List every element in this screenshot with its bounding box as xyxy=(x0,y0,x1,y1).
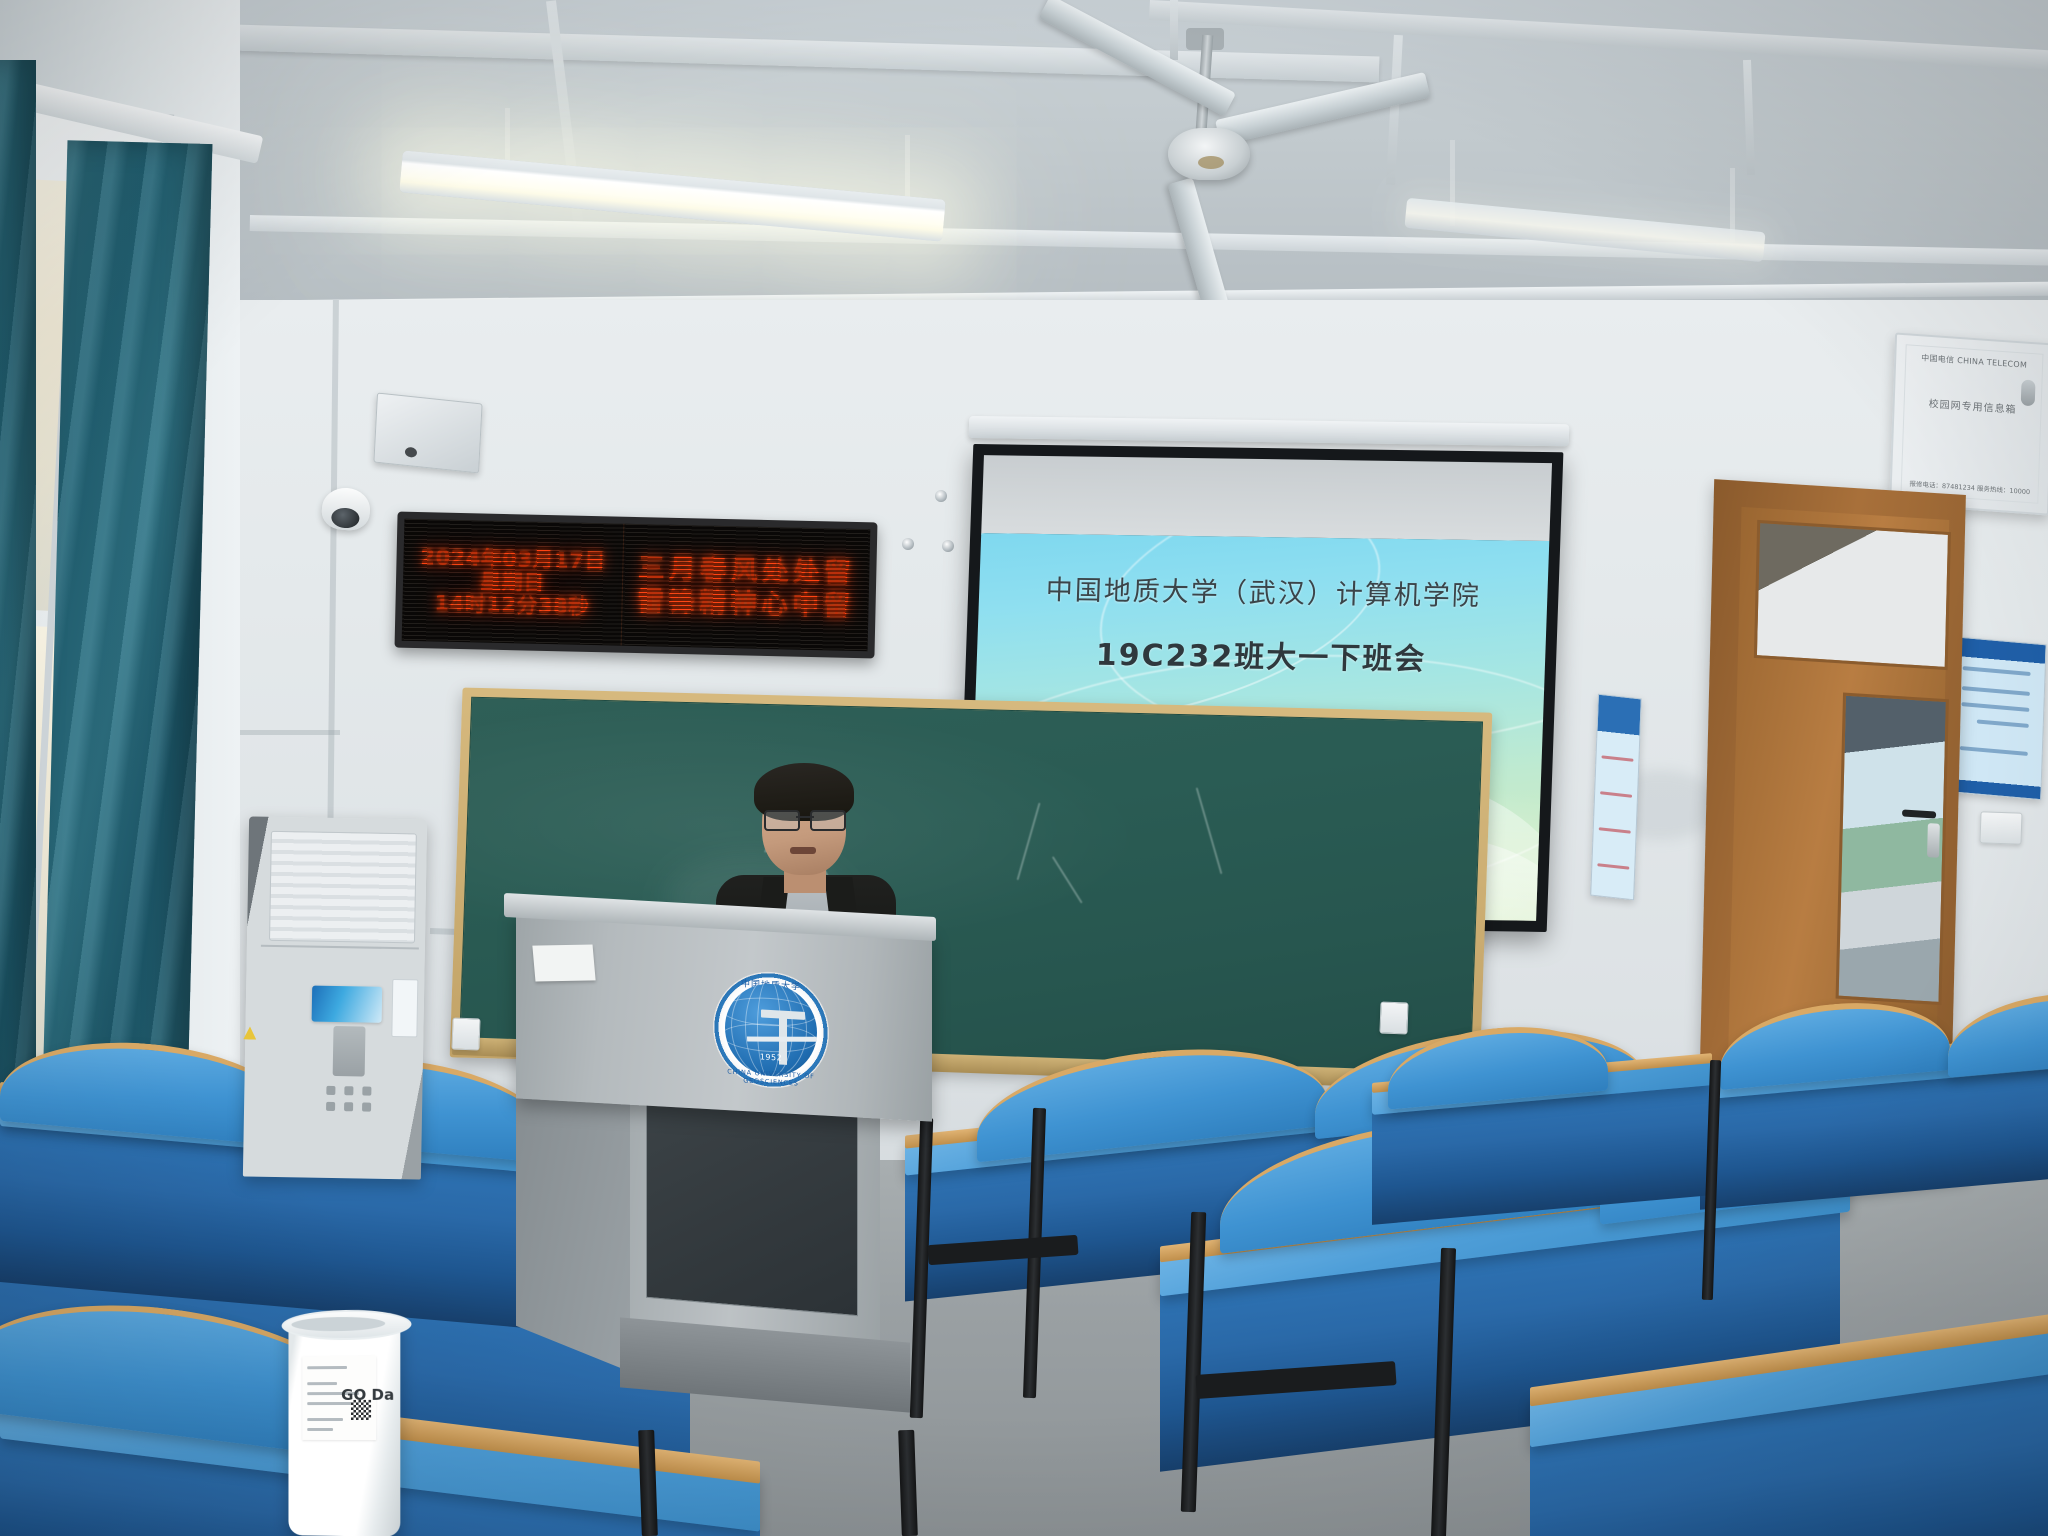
safety-guide-poster xyxy=(1590,694,1642,901)
poster-text-line xyxy=(1962,686,2030,696)
led-time: 14时12分38秒 xyxy=(434,592,590,618)
floor-air-conditioner[interactable] xyxy=(243,816,427,1179)
chalk-mark xyxy=(1017,803,1041,881)
door-transom-window xyxy=(1754,520,1951,670)
ceiling xyxy=(0,0,2048,330)
cabinet-lock-icon[interactable] xyxy=(2021,379,2036,406)
ac-button[interactable] xyxy=(326,1086,335,1095)
ac-button[interactable] xyxy=(344,1102,353,1111)
fan-hub-light xyxy=(1198,156,1224,169)
wall-screw-hole xyxy=(942,540,954,552)
ac-air-vent xyxy=(269,831,417,944)
wall-power-socket[interactable] xyxy=(1379,1002,1408,1035)
ac-button[interactable] xyxy=(362,1086,371,1095)
led-slogan-line2: 雷锋精神心中留 xyxy=(637,586,855,623)
cup-opening xyxy=(291,1316,385,1331)
wall-power-socket[interactable] xyxy=(451,1018,480,1051)
wall-seam xyxy=(327,300,339,860)
ceiling-pipe xyxy=(1743,60,1755,175)
wall-screw-hole xyxy=(902,538,914,550)
led-scrolling-display: 2024年03月17日 星期日 14时12分38秒 三月春风处处留 雷锋精神心中… xyxy=(395,512,878,659)
poster-section xyxy=(1600,791,1632,797)
chalk-mark xyxy=(1052,856,1083,903)
glasses-lens xyxy=(764,810,800,831)
university-emblem: 中国地质大学 1952 CHINA UNIVERSITY OF GEOSCIEN… xyxy=(713,969,829,1091)
glasses-lens xyxy=(810,810,846,831)
ceiling-pipe xyxy=(1170,0,1178,60)
ac-button[interactable] xyxy=(326,1102,335,1111)
led-slogan-line1: 三月春风处处留 xyxy=(638,553,856,590)
speaker-grill-dot xyxy=(405,447,417,458)
wall-screw-hole xyxy=(935,490,947,502)
emblem-bar xyxy=(747,1037,817,1042)
poster-text-line xyxy=(1977,719,2029,728)
camera-lens xyxy=(331,507,360,529)
slide-title-block: 中国地质大学（武汉）计算机学院 19C232班大一下班会 xyxy=(976,567,1548,680)
ac-button[interactable] xyxy=(344,1086,353,1095)
poster-section xyxy=(1599,827,1631,833)
ac-display-panel[interactable] xyxy=(333,1026,366,1077)
teal-window-curtain[interactable] xyxy=(41,140,213,1173)
door-lock[interactable] xyxy=(1927,823,1940,858)
ac-energy-label xyxy=(391,979,418,1037)
wall-mounted-speaker-box xyxy=(373,393,482,474)
lectern-cabinet-door[interactable] xyxy=(646,1086,858,1317)
poster-section xyxy=(1601,755,1633,761)
glasses-bridge xyxy=(796,816,814,818)
ac-panel-seam xyxy=(261,945,419,950)
led-right-column: 三月春风处处留 雷锋精神心中留 xyxy=(622,524,871,652)
poster-text-line xyxy=(1961,702,2029,712)
cup-rim xyxy=(282,1309,412,1341)
slide-title-line2: 19C232班大一下班会 xyxy=(976,628,1546,680)
chalk-mark xyxy=(1196,787,1223,874)
lectern-paper[interactable] xyxy=(532,945,595,982)
paper-cup[interactable]: GO Da xyxy=(288,1317,400,1536)
presenter-mouth xyxy=(790,847,816,854)
led-date: 2024年03月17日 xyxy=(420,546,606,572)
ac-button[interactable] xyxy=(362,1102,371,1111)
classroom-photo: 2024年03月17日 星期日 14时12分38秒 三月春风处处留 雷锋精神心中… xyxy=(0,0,2048,1536)
ceiling-pipe xyxy=(1386,35,1403,185)
led-left-column: 2024年03月17日 星期日 14时12分38秒 xyxy=(402,519,625,646)
network-cabinet[interactable]: 中国电信 CHINA TELECOM 校园网专用信息箱 报修电话：8748123… xyxy=(1889,332,2048,515)
presenter-glasses xyxy=(764,810,846,827)
screen-blank-top xyxy=(981,455,1552,541)
wall-power-socket[interactable] xyxy=(1979,811,2022,844)
ac-brand-label xyxy=(312,986,383,1023)
slide-title-line1: 中国地质大学（武汉）计算机学院 xyxy=(979,567,1548,614)
poster-section xyxy=(1597,863,1629,869)
poster-text-line xyxy=(1963,666,2031,676)
cup-brand-text: GO Da xyxy=(341,1388,394,1404)
poster-text-line xyxy=(1960,746,2028,756)
fan-hub xyxy=(1168,128,1250,180)
led-weekday: 星期日 xyxy=(480,570,545,594)
ac-warning-icon xyxy=(243,1026,256,1039)
emblem-globe: 1952 xyxy=(725,981,817,1078)
